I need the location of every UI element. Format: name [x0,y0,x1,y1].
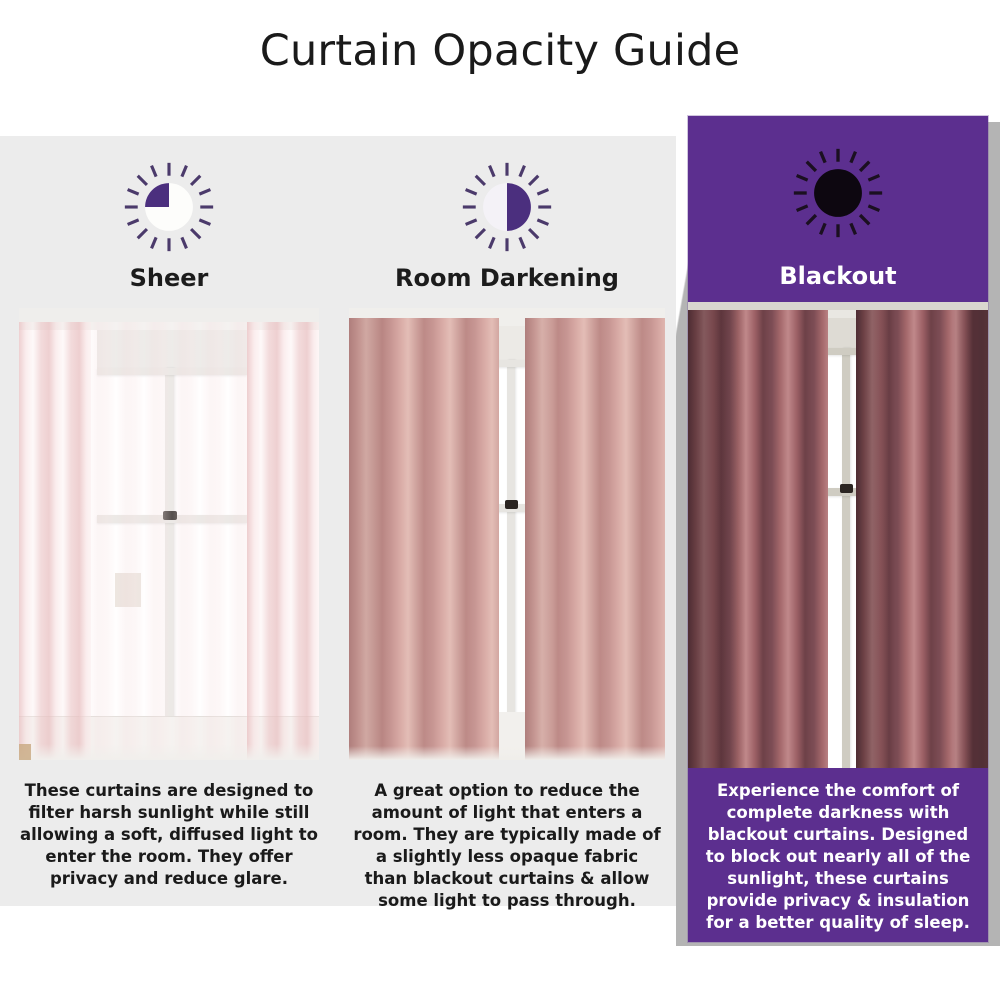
photo-blackout [688,302,988,768]
sun-full-icon [792,147,884,239]
caption-sheer: These curtains are designed to filter ha… [0,780,338,890]
sun-quarter-icon-wrap [0,152,338,262]
column-blackout[interactable]: Blackout Experience the comfort of compl… [688,116,988,942]
caption-room-darkening: A great option to reduce the amount of l… [338,780,676,912]
column-heading-sheer: Sheer [0,264,338,292]
sun-half-icon-wrap [338,152,676,262]
sun-quarter-icon [123,161,215,253]
caption-blackout: Experience the comfort of complete darkn… [688,780,988,934]
column-heading-blackout: Blackout [688,262,988,290]
column-heading-room-darkening: Room Darkening [338,264,676,292]
page-title: Curtain Opacity Guide [0,26,1000,76]
photo-sheer [19,308,319,760]
photo-room-darkening [349,308,665,760]
sun-full-icon-wrap [688,138,988,248]
sun-half-icon [461,161,553,253]
